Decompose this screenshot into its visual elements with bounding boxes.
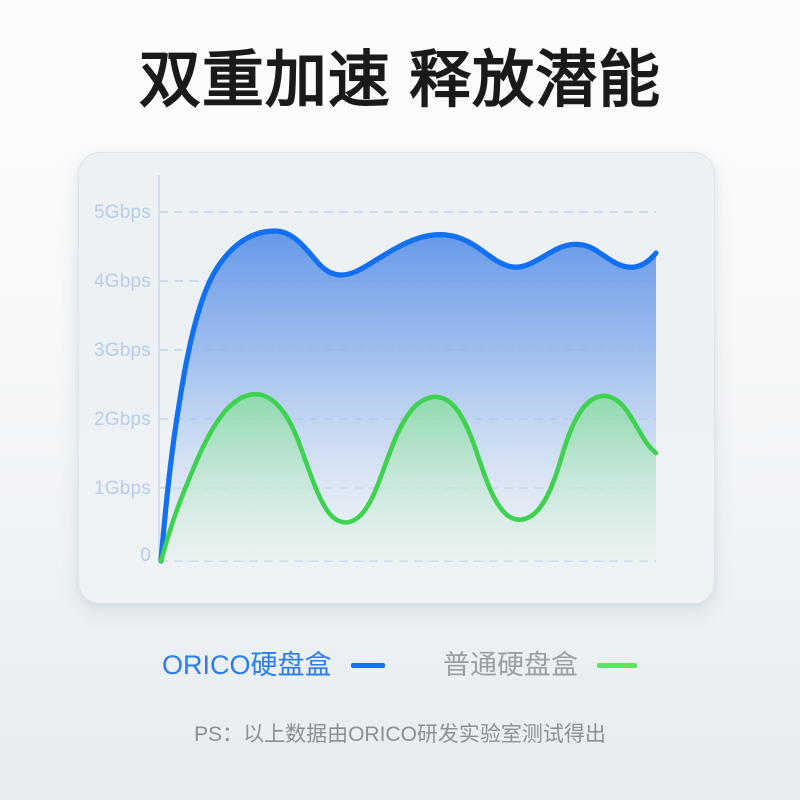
legend-item-orico: ORICO硬盘盒	[162, 648, 385, 682]
chart-legend: ORICO硬盘盒 普通硬盘盒	[0, 648, 800, 682]
legend-label-normal: 普通硬盘盒	[443, 648, 578, 682]
legend-line-green-icon	[597, 663, 637, 668]
chart-area: 5Gbps 4Gbps 3Gbps 2Gbps 1Gbps 0	[79, 153, 714, 603]
footnote-text: PS：以上数据由ORICO研发实验室测试得出	[0, 720, 800, 750]
speed-comparison-chart	[79, 153, 714, 603]
legend-label-orico: ORICO硬盘盒	[162, 648, 332, 682]
legend-line-blue-icon	[351, 663, 385, 668]
page-title: 双重加速 释放潜能	[0, 44, 800, 118]
chart-card: 5Gbps 4Gbps 3Gbps 2Gbps 1Gbps 0	[78, 152, 715, 604]
legend-item-normal: 普通硬盘盒	[443, 648, 637, 682]
series-normal	[161, 394, 656, 561]
